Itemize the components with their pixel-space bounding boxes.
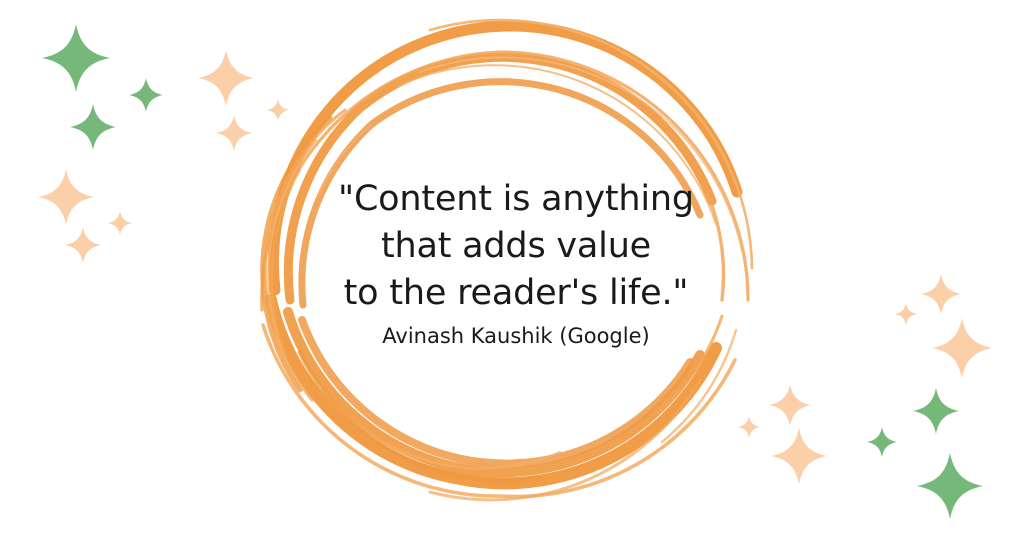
star-green-big-bottom — [917, 453, 983, 519]
star-peach-tiny-top — [267, 99, 289, 121]
star-peach-left — [38, 169, 94, 225]
quote-line-3: to the reader's life." — [300, 270, 732, 317]
quote-line-1: "Content is anything — [300, 176, 732, 223]
star-peach-bottom — [771, 428, 827, 484]
sparkle-cluster-bottom-right — [738, 274, 992, 519]
star-green-large-topleft — [42, 24, 110, 92]
quote-graphic-canvas: "Content is anything that adds value to … — [0, 0, 1024, 538]
star-peach-top — [198, 50, 254, 106]
star-peach-big-right — [932, 318, 992, 378]
star-peach-tiny-bottom — [738, 416, 760, 438]
star-peach-tiny-right — [895, 303, 917, 325]
star-green-right — [913, 388, 959, 434]
star-green-tiny-top — [129, 78, 163, 112]
star-green-medium-left — [70, 104, 116, 150]
quote-block: "Content is anything that adds value to … — [300, 176, 732, 351]
star-peach-upper-right — [921, 274, 961, 314]
quote-line-2: that adds value — [300, 223, 732, 270]
sparkle-cluster-top-left — [38, 24, 289, 263]
star-peach-tiny-left — [108, 211, 132, 235]
star-peach-mid-bottom — [769, 384, 811, 426]
quote-attribution: Avinash Kaushik (Google) — [300, 321, 732, 351]
star-peach-small-left — [65, 227, 101, 263]
star-peach-small-top — [216, 115, 252, 151]
star-green-tiny-bottom — [867, 427, 897, 457]
